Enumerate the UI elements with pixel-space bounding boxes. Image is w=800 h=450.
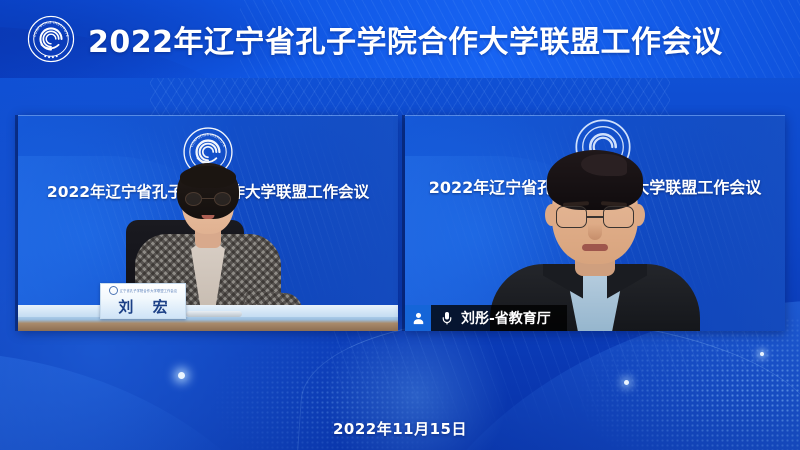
conference-broadcast-screen: · CONFUCIUS INSTITUTE 2022年辽宁省孔子学院合作大学联盟… — [0, 0, 800, 450]
participant-glasses — [185, 192, 231, 206]
video-tile-left[interactable]: CONFUCIUS INSTITUTE 2022年辽宁省孔子学院合作大学联盟工作… — [18, 115, 398, 331]
desk-microphone-icon — [186, 311, 242, 317]
participant-nose — [588, 224, 602, 240]
participant-video-left — [18, 116, 398, 331]
participant-name-bar: 刘彤-省教育厅 — [405, 305, 567, 331]
participant-mouth — [582, 244, 608, 251]
participant-video-right — [405, 116, 785, 331]
video-tile-right[interactable]: 2022年辽宁省孔子学院合作大学联盟工作会议 — [405, 115, 785, 331]
desk-nameplate: 辽宁省孔子学院合作大学联盟工作会议 刘 宏 — [100, 283, 186, 319]
participant-fringe — [180, 166, 236, 188]
institute-seal-icon — [109, 286, 118, 295]
participant-mouth — [202, 215, 215, 219]
video-grid: CONFUCIUS INSTITUTE 2022年辽宁省孔子学院合作大学联盟工作… — [0, 0, 800, 450]
nameplate-mark-text: 辽宁省孔子学院合作大学联盟工作会议 — [120, 288, 178, 293]
participant-name-label: 刘彤-省教育厅 — [461, 308, 551, 328]
participant-hair-part — [581, 154, 627, 176]
microphone-icon — [436, 311, 458, 326]
nameplate-seal: 辽宁省孔子学院合作大学联盟工作会议 — [109, 286, 178, 294]
nameplate-name: 刘 宏 — [111, 296, 174, 317]
meeting-date: 2022年11月15日 — [0, 418, 800, 439]
person-icon — [405, 305, 431, 331]
